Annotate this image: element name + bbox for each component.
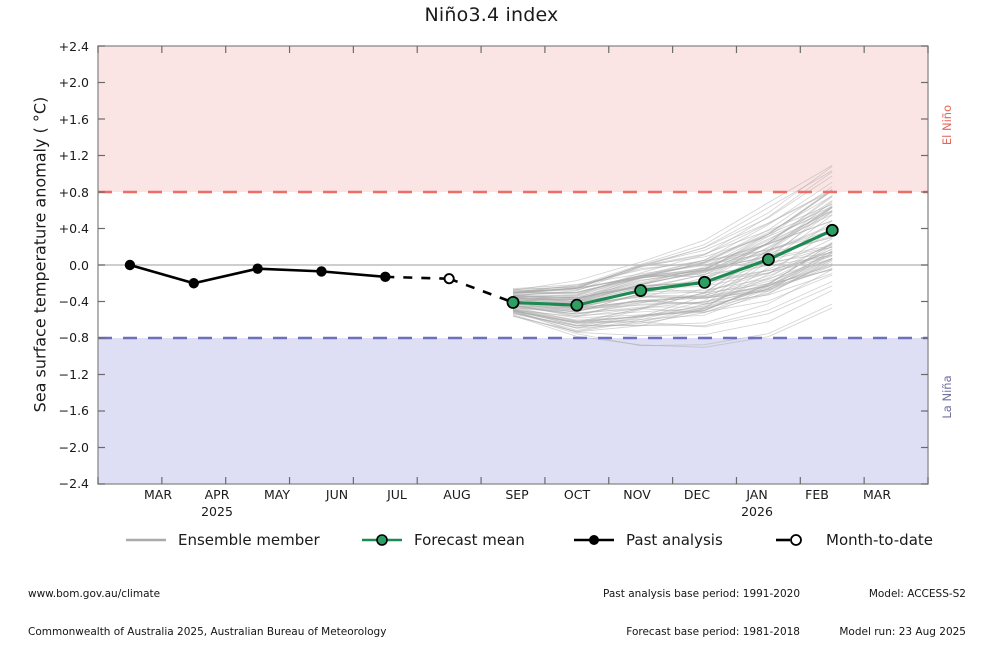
- x-tick-year-label: 2025: [182, 504, 252, 519]
- shaded-band: [98, 46, 928, 192]
- past-analysis-point: [316, 266, 326, 276]
- past-analysis-point: [125, 260, 135, 270]
- forecast-mean-point: [699, 277, 710, 288]
- past-analysis-point: [252, 263, 262, 273]
- footer-model-info: Model: ACCESS-S2 Model run: 23 Aug 2025: [800, 563, 966, 663]
- forecast-mean-point: [507, 297, 518, 308]
- legend-label: Ensemble member: [178, 529, 320, 551]
- x-tick-label: MAR: [842, 487, 912, 502]
- footer-base-periods: Past analysis base period: 1991-2020 For…: [540, 563, 800, 663]
- forecast-mean-point: [635, 285, 646, 296]
- x-tick-year-label: 2026: [722, 504, 792, 519]
- chart-figure: Niño3.4 index Sea surface temperature an…: [0, 0, 983, 590]
- footer-forecast-base-period: Forecast base period: 1981-2018: [540, 626, 800, 639]
- grey-line-icon: [122, 529, 170, 551]
- black-open-marker-icon: [770, 529, 818, 551]
- forecast-mean-point: [763, 254, 774, 265]
- mtd-to-forecast-dashed-link: [449, 279, 513, 303]
- month-to-date-point: [445, 274, 454, 283]
- black-line-marker-icon: [570, 529, 618, 551]
- legend-label: Past analysis: [626, 529, 723, 551]
- forecast-mean-point: [571, 300, 582, 311]
- forecast-mean-point: [827, 225, 838, 236]
- green-line-marker-icon: [358, 529, 406, 551]
- shaded-band: [98, 338, 928, 484]
- past-to-mtd-dashed-link: [385, 277, 449, 279]
- legend-label: Month-to-date: [826, 529, 933, 551]
- footer-copyright: Commonwealth of Australia 2025, Australi…: [28, 626, 386, 639]
- legend-label: Forecast mean: [414, 529, 525, 551]
- past-analysis-point: [380, 272, 390, 282]
- past-analysis-point: [189, 278, 199, 288]
- footer-model-run: Model run: 23 Aug 2025: [800, 626, 966, 639]
- footer-left: www.bom.gov.au/climate Commonwealth of A…: [28, 563, 386, 663]
